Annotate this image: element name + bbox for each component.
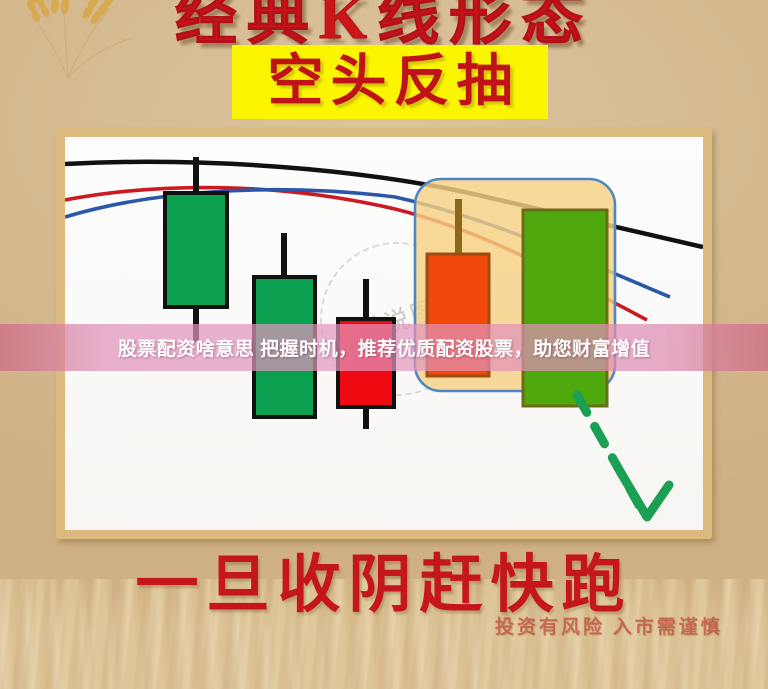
ad-banner[interactable]: 股票配资啥意思 把握时机，推荐优质配资股票，助您财富增值 [0,324,768,371]
risk-disclaimer: 投资有风险 入市需谨慎 [495,612,723,639]
candle-5 [523,210,607,406]
down-arrow-icon [577,395,669,517]
ad-banner-text: 股票配资啥意思 把握时机，推荐优质配资股票，助您财富增值 [118,334,650,361]
subtitle-text: 空头反抽 [261,54,520,110]
subtitle-banner: 空头反抽 [232,45,548,119]
candle-1 [165,157,227,342]
poster-root: 经典K线形态 空头反抽 学说图 [0,0,768,689]
